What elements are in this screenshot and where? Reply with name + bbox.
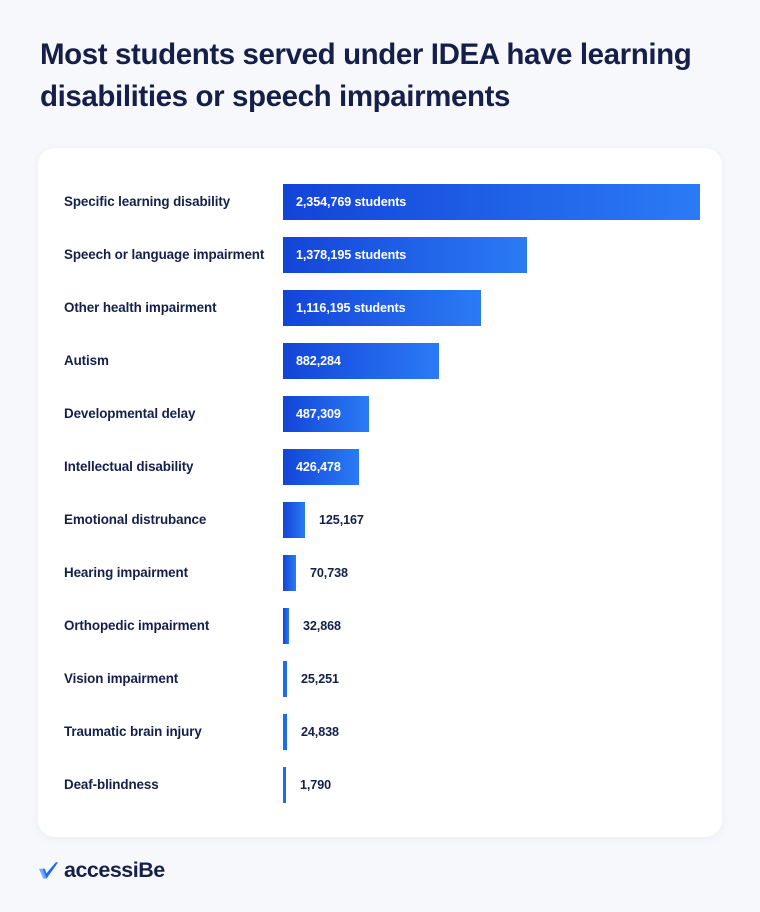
bar[interactable] <box>283 608 289 644</box>
checkmark-icon <box>38 860 59 882</box>
chart-page: Most students served under IDEA have lea… <box>0 0 760 912</box>
bar-row: Emotional distrubance125,167 <box>38 493 722 546</box>
bar[interactable] <box>283 767 286 803</box>
bar-track: 2,354,769 students <box>283 175 722 228</box>
bar-value-label: 1,790 <box>300 778 331 792</box>
bar[interactable]: 1,378,195 students <box>283 237 527 273</box>
bar-category-label: Intellectual disability <box>64 457 276 476</box>
bar-track: 426,478 <box>283 440 722 493</box>
bar-value-label: 32,868 <box>303 619 341 633</box>
bar-row: Orthopedic impairment32,868 <box>38 599 722 652</box>
bar-value-label: 125,167 <box>319 513 364 527</box>
bar[interactable]: 882,284 <box>283 343 439 379</box>
bar-category-label: Traumatic brain injury <box>64 722 276 741</box>
bar-track: 24,838 <box>283 705 722 758</box>
bar[interactable]: 1,116,195 students <box>283 290 481 326</box>
bar-track: 1,790 <box>283 758 722 811</box>
bar-row: Intellectual disability426,478 <box>38 440 722 493</box>
bar-category-label: Autism <box>64 351 276 370</box>
bar-row: Hearing impairment70,738 <box>38 546 722 599</box>
bar[interactable]: 487,309 <box>283 396 369 432</box>
bar-track: 487,309 <box>283 387 722 440</box>
bar-rows: Specific learning disability2,354,769 st… <box>38 148 722 837</box>
bar-track: 32,868 <box>283 599 722 652</box>
bar-category-label: Hearing impairment <box>64 563 276 582</box>
bar-track: 25,251 <box>283 652 722 705</box>
bar-value-label: 487,309 <box>283 407 341 421</box>
bar-row: Developmental delay487,309 <box>38 387 722 440</box>
bar[interactable] <box>283 502 305 538</box>
bar-track: 70,738 <box>283 546 722 599</box>
bar-value-label: 1,116,195 students <box>283 301 406 315</box>
bar-row: Specific learning disability2,354,769 st… <box>38 175 722 228</box>
bar-track: 882,284 <box>283 334 722 387</box>
bar[interactable]: 426,478 <box>283 449 359 485</box>
bar-value-label: 1,378,195 students <box>283 248 406 262</box>
bar-row: Other health impairment1,116,195 student… <box>38 281 722 334</box>
bar-value-label: 24,838 <box>301 725 339 739</box>
bar-track: 1,378,195 students <box>283 228 722 281</box>
logo-wordmark: accessiBe <box>64 860 165 882</box>
bar-category-label: Vision impairment <box>64 669 276 688</box>
bar-row: Vision impairment25,251 <box>38 652 722 705</box>
bar-row: Traumatic brain injury24,838 <box>38 705 722 758</box>
bar[interactable] <box>283 661 287 697</box>
bar-track: 1,116,195 students <box>283 281 722 334</box>
bar-category-label: Deaf-blindness <box>64 775 276 794</box>
bar-category-label: Emotional distrubance <box>64 510 276 529</box>
bar-value-label: 25,251 <box>301 672 339 686</box>
bar-value-label: 70,738 <box>310 566 348 580</box>
bar-row: Deaf-blindness1,790 <box>38 758 722 811</box>
bar-row: Autism882,284 <box>38 334 722 387</box>
bar-category-label: Speech or language impairment <box>64 245 276 264</box>
bar-row: Speech or language impairment1,378,195 s… <box>38 228 722 281</box>
bar[interactable]: 2,354,769 students <box>283 184 700 220</box>
bar-value-label: 2,354,769 students <box>283 195 406 209</box>
bar-value-label: 426,478 <box>283 460 341 474</box>
bar-category-label: Specific learning disability <box>64 192 276 211</box>
page-title: Most students served under IDEA have lea… <box>40 34 730 118</box>
bar-track: 125,167 <box>283 493 722 546</box>
bar-category-label: Other health impairment <box>64 298 276 317</box>
bar-category-label: Orthopedic impairment <box>64 616 276 635</box>
bar-category-label: Developmental delay <box>64 404 276 423</box>
bar[interactable] <box>283 555 296 591</box>
accessibe-logo: accessiBe <box>38 856 165 886</box>
bar-value-label: 882,284 <box>283 354 341 368</box>
bar[interactable] <box>283 714 287 750</box>
chart-card: Specific learning disability2,354,769 st… <box>38 148 722 837</box>
